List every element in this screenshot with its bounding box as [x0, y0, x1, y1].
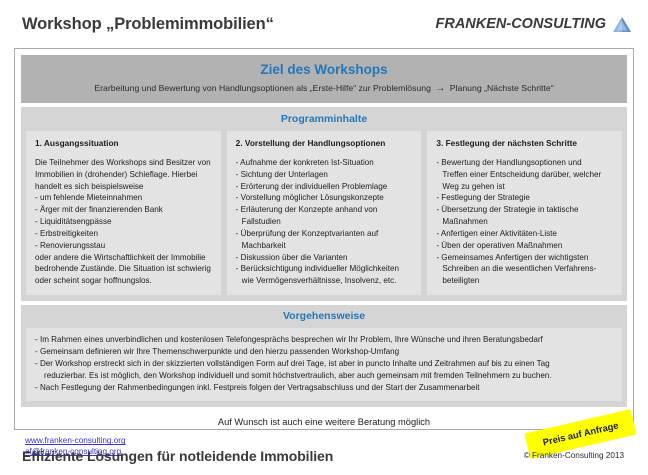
list-item: - Liquiditätsengpässe: [35, 216, 213, 228]
approach-section: Vorgehensweise - Im Rahmen eines unverbi…: [21, 305, 627, 407]
program-column: 2. Vorstellung der Handlungsoptionen- Au…: [227, 131, 422, 295]
brand-lockup: FRANKEN-CONSULTING: [436, 16, 641, 33]
program-column: 1. AusgangssituationDie Teilnehmer des W…: [26, 131, 221, 295]
page-title: Workshop „Problemimmobilien“: [22, 15, 274, 34]
list-item: Fallstudien: [236, 216, 414, 228]
list-item: Weg zu gehen ist: [436, 181, 614, 193]
approach-section-title: Vorgehensweise: [21, 308, 627, 328]
list-item: - Ärger mit der finanzierenden Bank: [35, 204, 213, 216]
arrow-icon: →: [433, 83, 447, 94]
list-item: Maßnahmen: [436, 216, 614, 228]
brand-name: FRANKEN-CONSULTING: [436, 16, 607, 32]
list-item: - Diskussion über die Varianten: [236, 252, 414, 264]
list-item: - Gemeinsames Anfertigen der wichtigsten: [436, 252, 614, 264]
list-item: - Erbstreitigkeiten: [35, 228, 213, 240]
list-item: - Erörterung der individuellen Problemla…: [236, 181, 414, 193]
list-item: - Renovierungsstau: [35, 240, 213, 252]
approach-body: - Im Rahmen eines unverbindlichen und ko…: [26, 328, 622, 402]
list-item: beteiligten: [436, 275, 614, 287]
list-item: - Aufnahme der konkreten Ist-Situation: [236, 157, 414, 169]
program-column-intro: Die Teilnehmer des Workshops sind Besitz…: [35, 157, 213, 192]
program-column-heading: 1. Ausgangssituation: [35, 138, 213, 148]
approach-list: - Im Rahmen eines unverbindlichen und ko…: [35, 334, 613, 395]
program-column-heading: 3. Festlegung der nächsten Schritte: [436, 138, 614, 148]
footer-tagline: Effiziente Lösungen für notleidende Immo…: [22, 448, 333, 464]
list-item: - Vorstellung möglicher Lösungskonzepte: [236, 192, 414, 204]
closing-note: Auf Wunsch ist auch eine weitere Beratun…: [21, 407, 627, 428]
goal-title: Ziel des Workshops: [31, 61, 617, 79]
slide-footer: Effiziente Lösungen für notleidende Immo…: [0, 436, 648, 475]
list-item: - Nach Festlegung der Rahmenbedingungen …: [35, 382, 613, 394]
program-column-list: - Aufnahme der konkreten Ist-Situation- …: [236, 157, 414, 287]
list-item: - Bewertung der Handlungsoptionen und: [436, 157, 614, 169]
list-item: Machbarkeit: [236, 240, 414, 252]
goal-subtitle: Erarbeitung und Bewertung von Handlungso…: [31, 82, 617, 96]
program-column: 3. Festlegung der nächsten Schritte- Bew…: [427, 131, 622, 295]
list-item: Treffen einer Entscheidung darüber, welc…: [436, 169, 614, 181]
slide-root: Workshop „Problemimmobilien“ FRANKEN-CON…: [0, 0, 648, 475]
list-item: - Festlegung der Strategie: [436, 192, 614, 204]
slide-header: Workshop „Problemimmobilien“ FRANKEN-CON…: [0, 0, 648, 48]
program-columns: 1. AusgangssituationDie Teilnehmer des W…: [21, 131, 627, 295]
program-section: Programminhalte 1. AusgangssituationDie …: [21, 107, 627, 301]
goal-subtitle-after: Planung „Nächste Schritte“: [450, 83, 554, 93]
program-column-list: - Bewertung der Handlungsoptionen undTre…: [436, 157, 614, 287]
goal-box: Ziel des Workshops Erarbeitung und Bewer…: [21, 55, 627, 103]
list-item: - um fehlende Mieteinnahmen: [35, 192, 213, 204]
footer-copyright: © Franken-Consulting 2013: [524, 451, 630, 460]
list-item: - Übersetzung der Strategie in taktische: [436, 204, 614, 216]
program-column-outro: oder andere die Wirtschaftlichkeit der I…: [35, 252, 213, 287]
list-item: - Überprüfung der Konzeptvarianten auf: [236, 228, 414, 240]
list-item: reduzierbar. Es ist möglich, den Worksho…: [35, 370, 613, 382]
list-item: - Berücksichtigung individueller Möglich…: [236, 263, 414, 275]
goal-subtitle-before: Erarbeitung und Bewertung von Handlungso…: [94, 83, 431, 93]
list-item: - Anfertigen einer Aktivitäten-Liste: [436, 228, 614, 240]
list-item: - Üben der operativen Maßnahmen: [436, 240, 614, 252]
triangle-logo-icon: [612, 16, 632, 33]
list-item: - Gemeinsam definieren wir Ihre Themensc…: [35, 346, 613, 358]
program-section-title: Programminhalte: [21, 111, 627, 131]
program-column-heading: 2. Vorstellung der Handlungsoptionen: [236, 138, 414, 148]
list-item: - Im Rahmen eines unverbindlichen und ko…: [35, 334, 613, 346]
list-item: - Der Workshop erstreckt sich in der ski…: [35, 358, 613, 370]
program-column-list: - um fehlende Mieteinnahmen- Ärger mit d…: [35, 192, 213, 251]
list-item: - Sichtung der Unterlagen: [236, 169, 414, 181]
list-item: wie Vermögensverhältnisse, Insolvenz, et…: [236, 275, 414, 287]
list-item: Schreiben an die wesentlichen Verfahrens…: [436, 263, 614, 275]
content-frame: Ziel des Workshops Erarbeitung und Bewer…: [14, 48, 634, 430]
list-item: - Erläuterung der Konzepte anhand von: [236, 204, 414, 216]
